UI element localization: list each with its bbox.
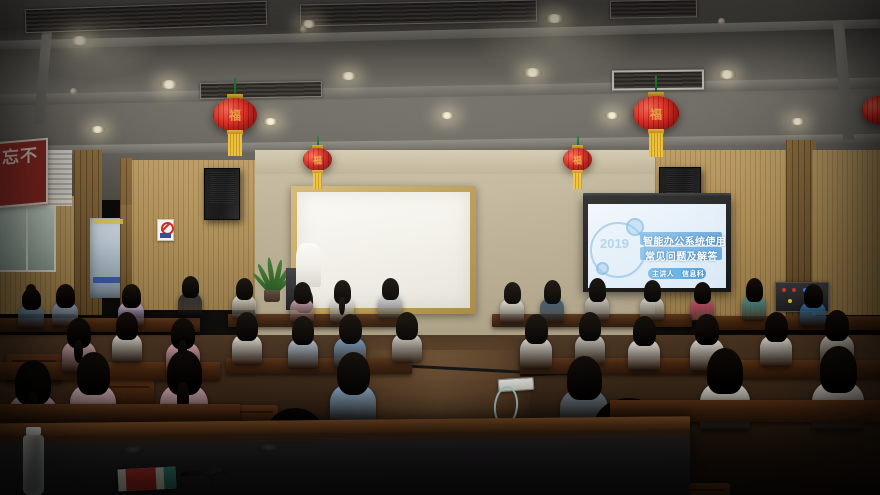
attendee-ponytail: [339, 297, 345, 315]
attendee-hair: [746, 278, 763, 302]
attendee-hair: [694, 282, 711, 304]
glasses-bridge: [207, 476, 213, 478]
attendee-hair: [644, 280, 661, 302]
attendee-hair: [525, 314, 548, 344]
attendee-hair: [579, 312, 601, 341]
attendee-hair: [820, 346, 857, 393]
attendee-hair: [337, 352, 370, 395]
attendee-hair: [804, 284, 823, 308]
attendee-hair: [382, 278, 399, 300]
attendee: [760, 312, 792, 366]
bottle-cap: [26, 427, 41, 435]
attendee-hair: [292, 316, 314, 345]
book-spine: [163, 466, 176, 489]
attendee-hair: [567, 356, 602, 400]
attendee-hair: [77, 352, 110, 395]
attendee: [640, 280, 664, 320]
attendee-hair: [294, 282, 311, 304]
attendee-hair: [56, 284, 75, 308]
attendee-hair: [707, 348, 743, 394]
book[interactable]: [117, 466, 176, 491]
attendee-hair: [695, 314, 719, 345]
attendee-hair: [504, 282, 521, 304]
attendee-hair: [396, 312, 418, 340]
attendee-hair: [182, 276, 199, 298]
attendee: [628, 316, 660, 370]
attendee-hair: [339, 314, 362, 344]
attendee-hair: [544, 280, 561, 304]
attendee-hair-bun: [26, 284, 36, 294]
water-bottle[interactable]: [22, 427, 45, 495]
bottle-body: [23, 435, 44, 495]
attendee-hair: [122, 284, 141, 308]
attendee-hair: [116, 312, 138, 340]
attendee-hair: [236, 278, 253, 300]
attendee: [520, 314, 552, 368]
attendee: [112, 312, 142, 362]
attendee-hair: [825, 310, 849, 341]
attendee: [288, 316, 318, 368]
attendee: [330, 352, 376, 428]
attendee-hair: [236, 312, 258, 341]
attendee-hair: [633, 316, 656, 346]
attendee: [232, 312, 262, 364]
conference-room-photo: 忘不 2019 智能办公系统使用 常见问题及解答 主讲人 信息科: [0, 0, 880, 495]
attendee: [18, 288, 44, 328]
book-cover: [125, 468, 156, 492]
attendee: [392, 312, 422, 362]
desk-cable-grommet: [122, 446, 144, 454]
attendee: [178, 276, 202, 316]
attendee-hair: [765, 312, 788, 342]
attendee-hair: [589, 278, 606, 302]
desk-cable-grommet: [258, 444, 280, 452]
